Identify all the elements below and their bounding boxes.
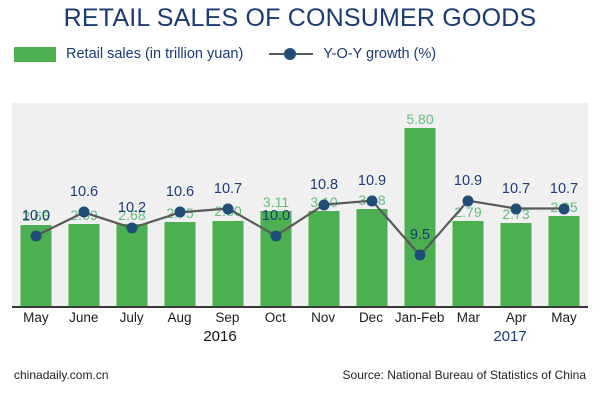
growth-point-jan-feb[interactable] (415, 250, 426, 261)
growth-value-label: 10.7 (502, 181, 530, 197)
growth-value-label: 10.6 (70, 184, 98, 200)
x-tick-june: June (60, 310, 108, 330)
x-tick-dec: Dec (347, 310, 395, 330)
chart-legend: Retail sales (in trillion yuan) Y-O-Y gr… (14, 43, 594, 65)
footer-site: chinadaily.com.cn (14, 368, 109, 382)
x-tick-apr: Apr (492, 310, 540, 330)
page-title: RETAIL SALES OF CONSUMER GOODS (0, 4, 600, 33)
x-tick-may: May (540, 310, 588, 330)
legend-line-dot (284, 48, 296, 60)
growth-point-dec[interactable] (367, 195, 378, 206)
legend-line-marker-icon (269, 47, 313, 61)
growth-value-label: 10.0 (262, 208, 290, 224)
x-tick-mar: Mar (444, 310, 492, 330)
growth-value-label: 10.9 (454, 173, 482, 189)
growth-value-label: 9.5 (410, 227, 430, 243)
growth-point-apr[interactable] (511, 203, 522, 214)
growth-point-may[interactable] (31, 230, 42, 241)
growth-point-mar[interactable] (463, 195, 474, 206)
x-axis-year-2017: 2017 (470, 328, 550, 345)
growth-line-path (12, 103, 588, 307)
growth-value-label: 10.8 (310, 177, 338, 193)
growth-value-label: 10.9 (358, 173, 386, 189)
x-axis-labels: MayJuneJulyAugSepOctNovDecJan-FebMarAprM… (12, 310, 588, 330)
growth-point-july[interactable] (127, 223, 138, 234)
x-tick-aug: Aug (156, 310, 204, 330)
growth-point-june[interactable] (79, 207, 90, 218)
x-tick-july: July (108, 310, 156, 330)
growth-point-may[interactable] (559, 203, 570, 214)
growth-value-label: 10.6 (166, 184, 194, 200)
growth-point-nov[interactable] (319, 199, 330, 210)
legend-bar-label: Retail sales (in trillion yuan) (66, 46, 243, 62)
x-axis-year-2016: 2016 (180, 328, 260, 345)
x-tick-may: May (12, 310, 60, 330)
growth-point-oct[interactable] (271, 230, 282, 241)
chart-plot: 2.6610.02.6910.62.6810.22.7510.62.8010.7… (12, 103, 588, 307)
x-tick-nov: Nov (299, 310, 347, 330)
legend-item-retail-sales: Retail sales (in trillion yuan) (14, 46, 243, 62)
growth-value-label: 10.7 (550, 181, 578, 197)
growth-value-label: 10.2 (118, 200, 146, 216)
growth-point-sep[interactable] (223, 203, 234, 214)
footer-source: Source: National Bureau of Statistics of… (343, 368, 586, 382)
legend-line-label: Y-O-Y growth (%) (323, 46, 436, 62)
growth-point-aug[interactable] (175, 207, 186, 218)
x-tick-sep: Sep (203, 310, 251, 330)
growth-value-label: 10.0 (22, 208, 50, 224)
legend-item-yoy-growth: Y-O-Y growth (%) (243, 46, 436, 62)
legend-bar-swatch-icon (14, 47, 56, 62)
x-tick-jan-feb: Jan-Feb (395, 310, 445, 330)
growth-value-label: 10.7 (214, 181, 242, 197)
x-tick-oct: Oct (251, 310, 299, 330)
